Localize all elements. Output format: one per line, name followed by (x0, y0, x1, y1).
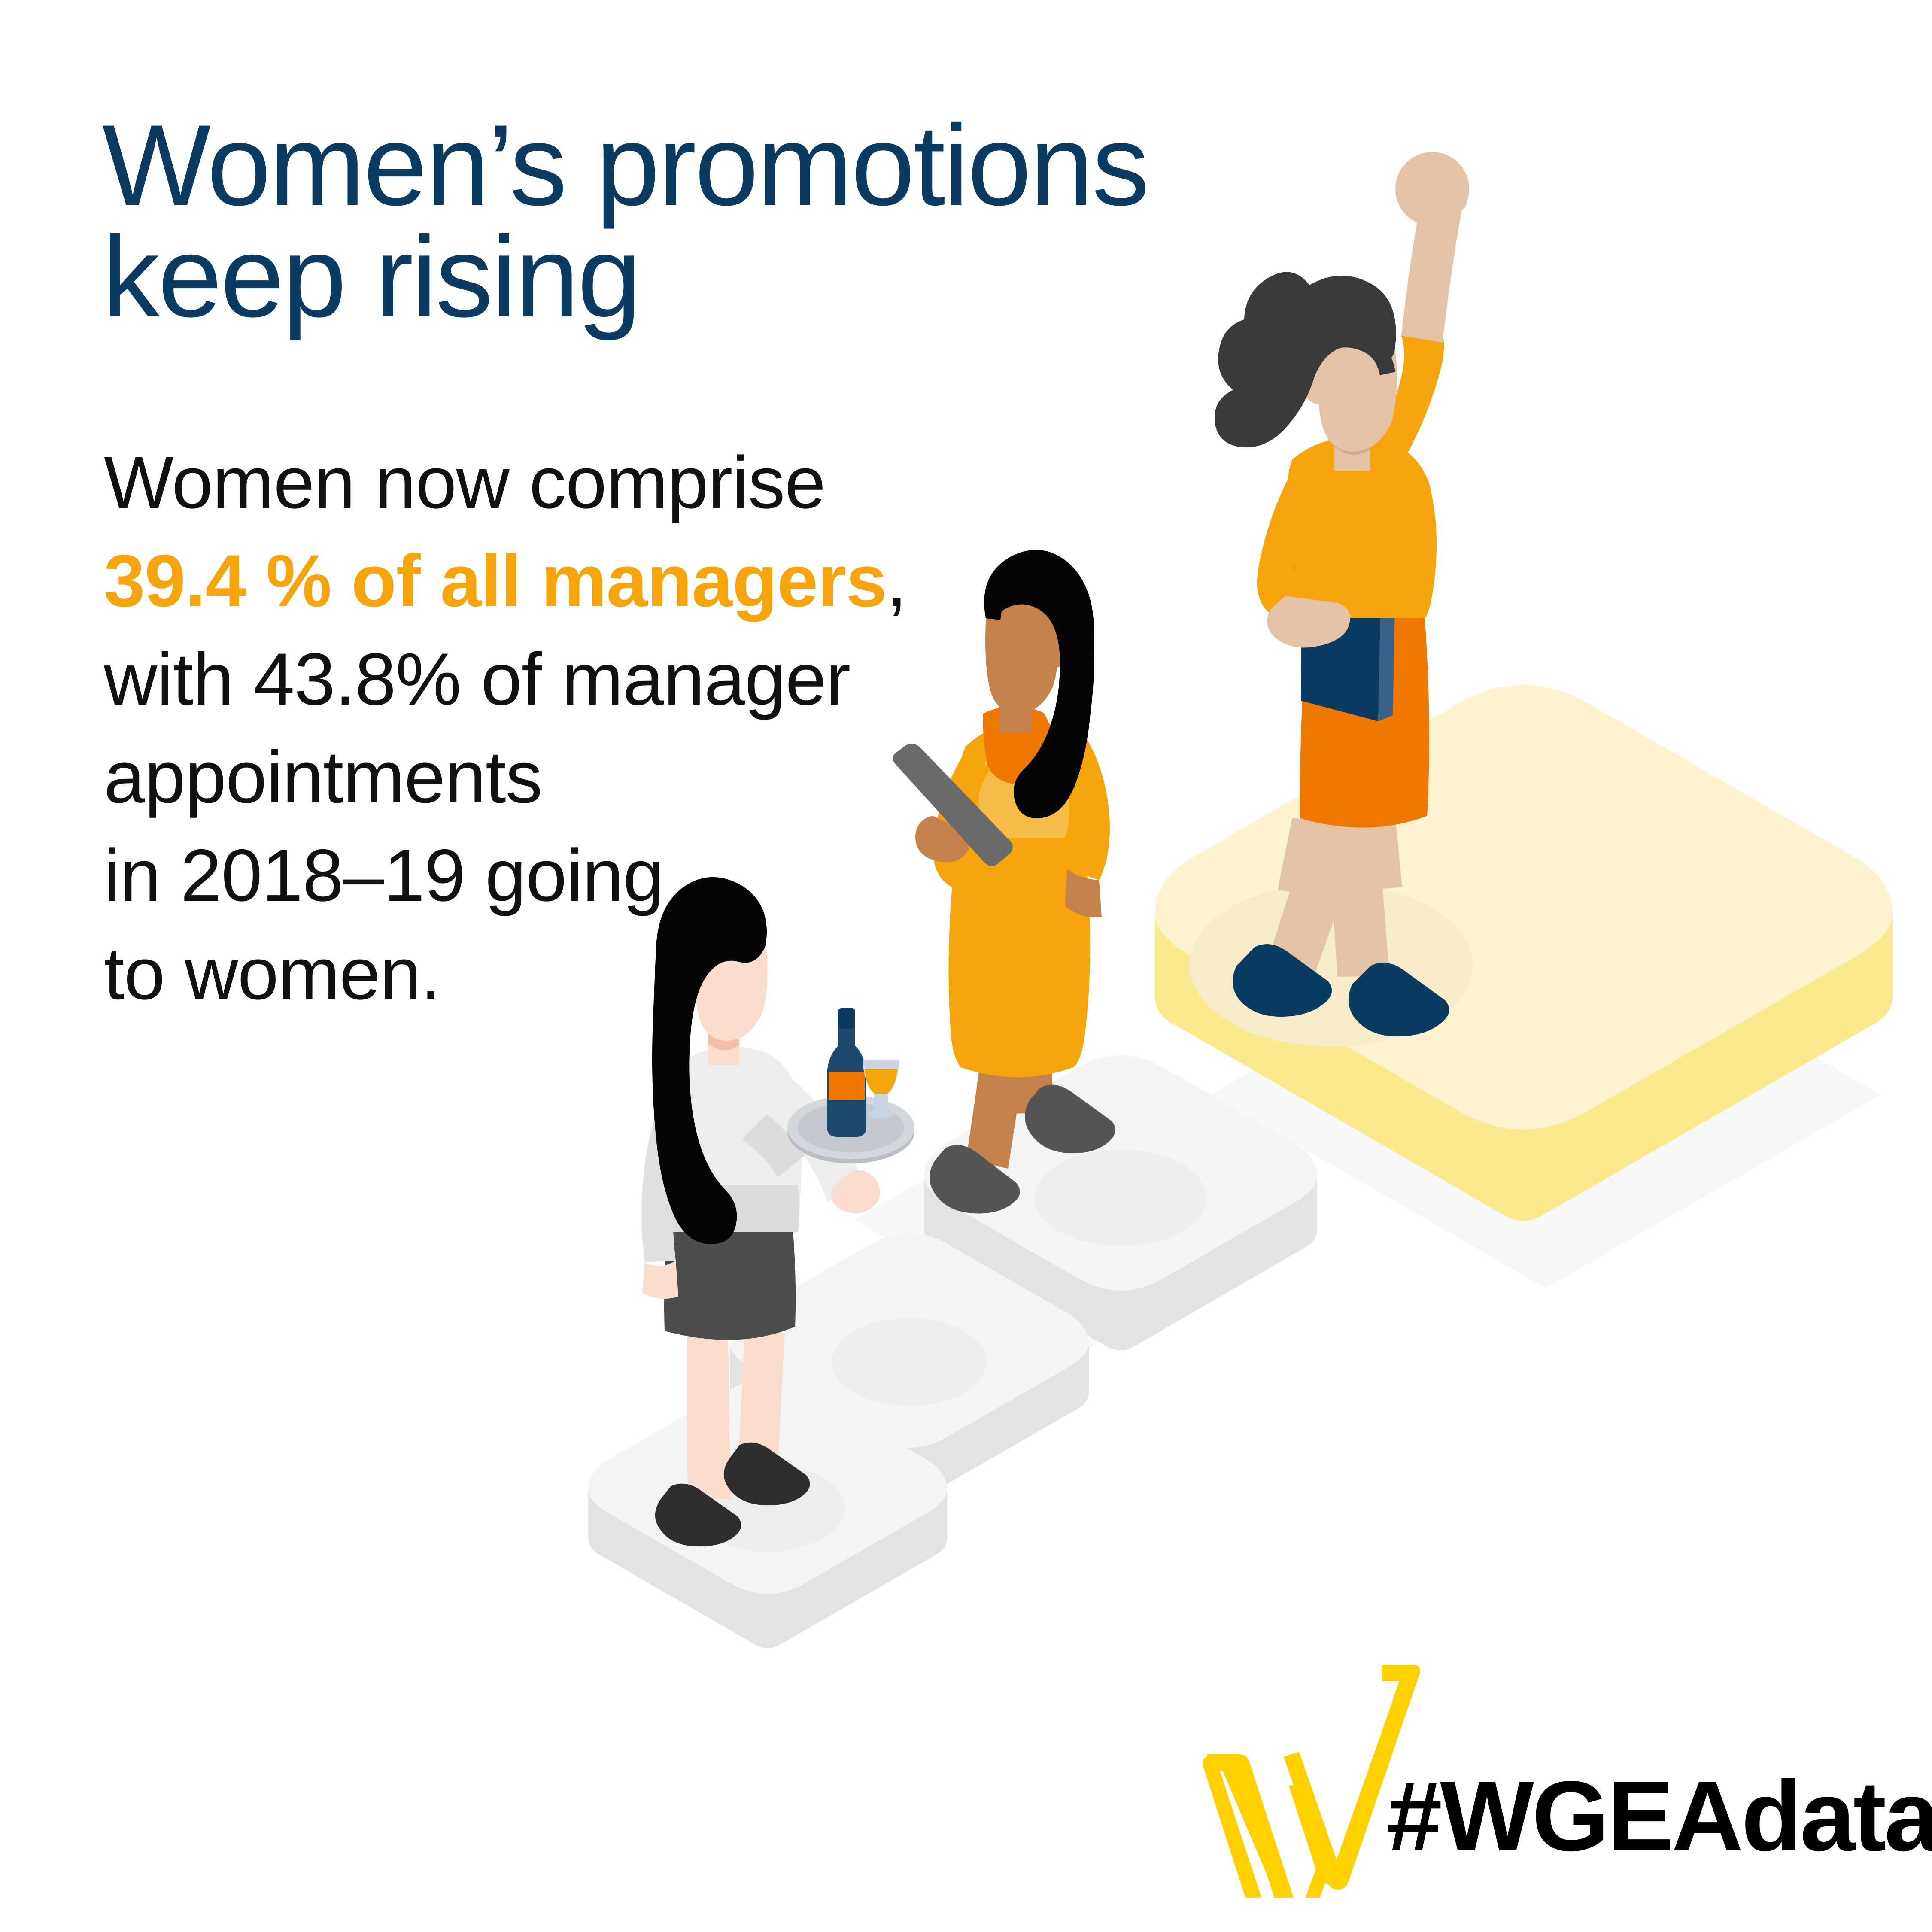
infographic-canvas: Women’s promotions keep rising Women now… (0, 0, 1932, 1932)
wine-bottle (827, 1008, 866, 1137)
body-line-4: appointments (104, 728, 984, 826)
page-title: Women’s promotions keep rising (102, 109, 1347, 333)
footer-branding: #WGEAdata (1198, 1657, 1885, 1915)
body-copy: Women now comprise 39.4 % of all manager… (104, 434, 984, 1023)
hashtag-label: #WGEAdata (1387, 1767, 1932, 1866)
body-line-2: 39.4 % of all managers, (104, 532, 984, 630)
body-line-1: Women now comprise (104, 434, 984, 532)
drinks-tray (787, 1008, 914, 1163)
body-line-3: with 43.8% of manager (104, 630, 984, 729)
stat-highlight-managers: 39.4 % of all managers (104, 540, 887, 622)
body-line-5: in 2018–19 going (104, 826, 984, 925)
body-line-2-tail: , (887, 540, 907, 622)
body-line-6: to women. (104, 925, 984, 1023)
